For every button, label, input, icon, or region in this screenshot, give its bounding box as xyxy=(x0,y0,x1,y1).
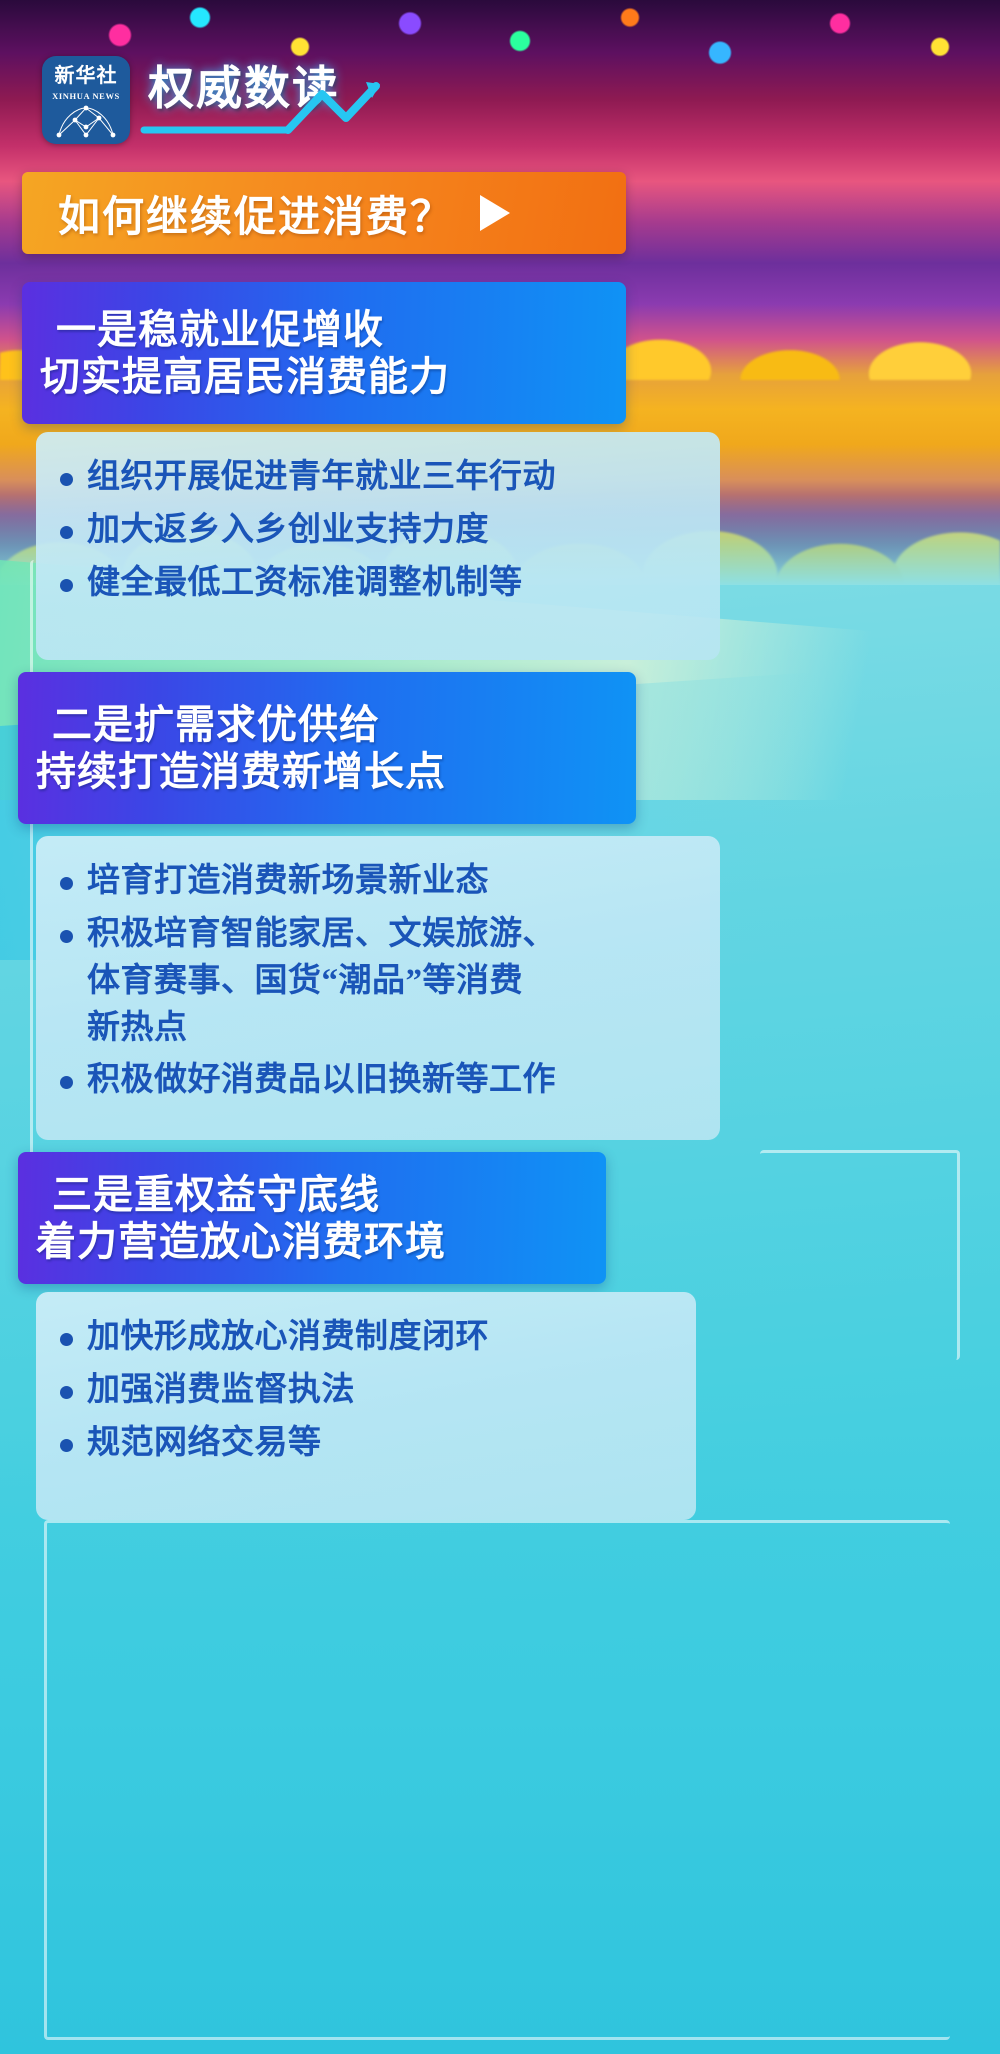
bullet-dot-icon xyxy=(60,1439,73,1452)
list-item: 健全最低工资标准调整机制等 xyxy=(60,560,700,607)
xinhua-logo: 新华社 XINHUA NEWS xyxy=(42,56,130,144)
bullet-dot-icon xyxy=(60,930,73,943)
bullet-text-multiline: 积极培育智能家居、文娱旅游、 体育赛事、国货“潮品”等消费 新热点 xyxy=(87,911,556,1052)
section-header-3-line2: 着力营造放心消费环境 xyxy=(36,1218,606,1265)
series-brand: 权威数读 xyxy=(148,48,388,128)
background-outline-frame-right xyxy=(760,1150,960,1360)
xinhua-logo-cn: 新华社 xyxy=(55,66,118,86)
section-header-1: 一是稳就业促增收 切实提高居民消费能力 xyxy=(22,282,626,424)
section-header-1-line1: 一是稳就业促增收 xyxy=(56,306,626,353)
background-outline-frame-bottom xyxy=(44,1520,950,2040)
section-header-2-line1: 二是扩需求优供给 xyxy=(52,701,636,748)
bullet-dot-icon xyxy=(60,526,73,539)
rising-chart-arrow-icon xyxy=(140,80,390,155)
section-header-2: 二是扩需求优供给 持续打造消费新增长点 xyxy=(18,672,636,824)
bullet-text: 加强消费监督执法 xyxy=(87,1367,355,1414)
section-header-2-line2: 持续打造消费新增长点 xyxy=(36,748,636,795)
section-body-3: 加快形成放心消费制度闭环 加强消费监督执法 规范网络交易等 xyxy=(36,1292,696,1520)
main-title-banner: 如何继续促进消费？ xyxy=(22,172,626,254)
bullet-text: 培育打造消费新场景新业态 xyxy=(87,858,489,905)
list-item: 培育打造消费新场景新业态 xyxy=(60,858,700,905)
page-title: 如何继续促进消费？ xyxy=(58,183,454,244)
list-item: 加快形成放心消费制度闭环 xyxy=(60,1314,676,1361)
list-item: 积极培育智能家居、文娱旅游、 体育赛事、国货“潮品”等消费 新热点 xyxy=(60,911,700,1052)
list-item: 组织开展促进青年就业三年行动 xyxy=(60,454,700,501)
list-item: 加大返乡入乡创业支持力度 xyxy=(60,507,700,554)
bullet-dot-icon xyxy=(60,473,73,486)
bullet-text: 规范网络交易等 xyxy=(87,1420,322,1467)
section-body-1: 组织开展促进青年就业三年行动 加大返乡入乡创业支持力度 健全最低工资标准调整机制… xyxy=(36,432,720,660)
section-body-2: 培育打造消费新场景新业态 积极培育智能家居、文娱旅游、 体育赛事、国货“潮品”等… xyxy=(36,836,720,1140)
bullet-text: 积极做好消费品以旧换新等工作 xyxy=(87,1057,556,1104)
infographic-page: 新华社 XINHUA NEWS 权威数读 xyxy=(0,0,1000,2054)
bullet-text: 加快形成放心消费制度闭环 xyxy=(87,1314,489,1361)
section-header-1-line2: 切实提高居民消费能力 xyxy=(40,353,626,400)
bullet-text-line1: 积极培育智能家居、文娱旅游、 xyxy=(87,911,556,958)
section-header-3: 三是重权益守底线 着力营造放心消费环境 xyxy=(18,1152,606,1284)
bullet-text: 组织开展促进青年就业三年行动 xyxy=(87,454,556,501)
bullet-text-line2: 体育赛事、国货“潮品”等消费 xyxy=(87,958,556,1005)
list-item: 规范网络交易等 xyxy=(60,1420,676,1467)
list-item: 加强消费监督执法 xyxy=(60,1367,676,1414)
xinhua-logo-en: XINHUA NEWS xyxy=(52,91,120,101)
bullet-text: 健全最低工资标准调整机制等 xyxy=(87,560,523,607)
bullet-text-line3: 新热点 xyxy=(87,1005,556,1052)
bullet-text: 加大返乡入乡创业支持力度 xyxy=(87,507,489,554)
section-header-3-line1: 三是重权益守底线 xyxy=(52,1171,606,1218)
list-item: 积极做好消费品以旧换新等工作 xyxy=(60,1057,700,1104)
bullet-dot-icon xyxy=(60,579,73,592)
play-triangle-icon xyxy=(480,195,510,231)
bullet-dot-icon xyxy=(60,1386,73,1399)
network-nodes-icon xyxy=(55,105,117,144)
bullet-dot-icon xyxy=(60,1333,73,1346)
bullet-dot-icon xyxy=(60,877,73,890)
bullet-dot-icon xyxy=(60,1076,73,1089)
